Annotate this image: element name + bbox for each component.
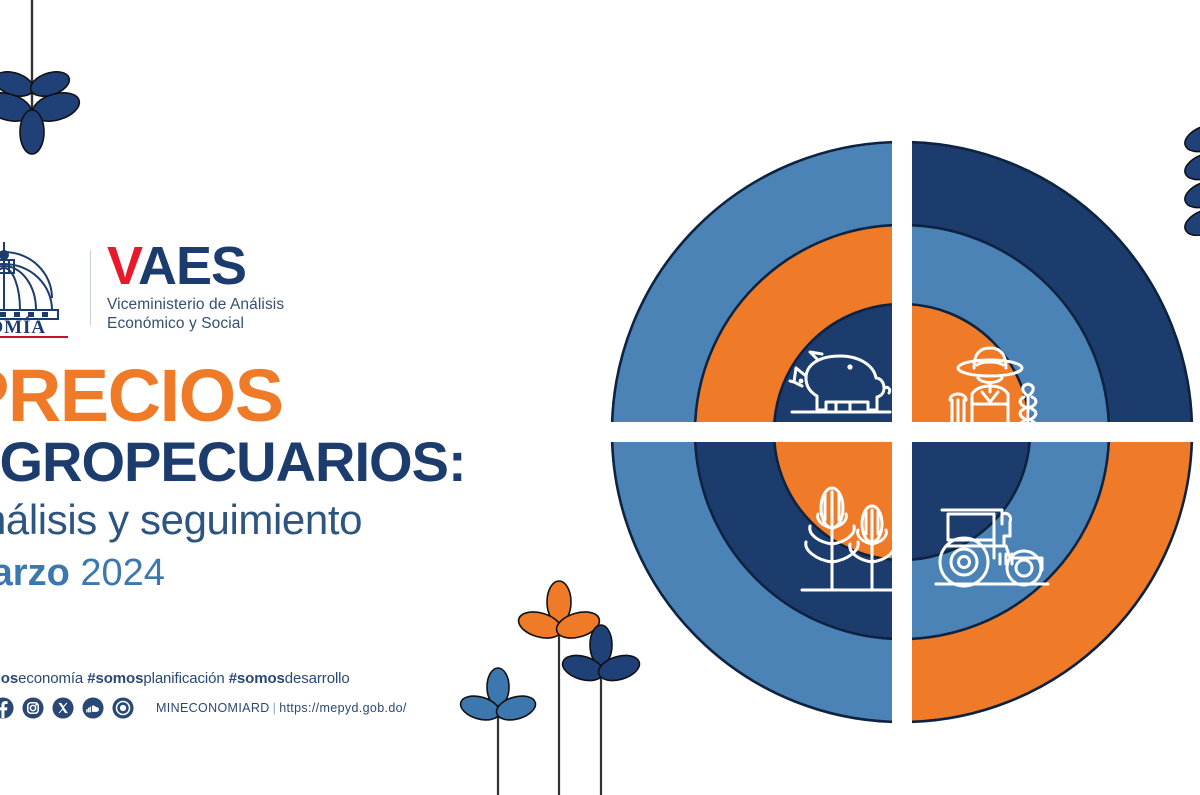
ministry-emblem-icon: ONOMÍA bbox=[0, 238, 82, 338]
footer-block: #somoseconomía #somosplanificación #somo… bbox=[0, 670, 407, 719]
agricultural-sectors-wheel bbox=[592, 112, 1200, 757]
vaes-wordmark: VAES bbox=[107, 242, 284, 292]
handle-separator: | bbox=[273, 701, 277, 715]
vaes-initial: V bbox=[107, 236, 138, 296]
hashtag-tag: #somos bbox=[0, 670, 18, 687]
vaes-rest: AES bbox=[138, 236, 246, 296]
headline-block: PRECIOS AGROPECUARIOS: análisis y seguim… bbox=[0, 362, 466, 595]
hanging-sprout-icon bbox=[0, 0, 100, 174]
date-month: Marzo bbox=[0, 552, 70, 594]
logo-divider bbox=[90, 250, 91, 326]
facebook-icon[interactable] bbox=[0, 697, 14, 719]
cover-slide: ONOMÍA VAES Viceministerio de Análisis E… bbox=[0, 0, 1200, 795]
date-year: 2024 bbox=[80, 552, 165, 594]
hashtag-word: desarrollo bbox=[285, 670, 350, 687]
page-subtitle: análisis y seguimiento bbox=[0, 496, 466, 543]
hashtag-word: economía bbox=[18, 670, 83, 687]
instagram-icon[interactable] bbox=[22, 697, 44, 719]
page-title-second: AGROPECUARIOS: bbox=[0, 433, 466, 490]
hashtag-line: #somoseconomía #somosplanificación #somo… bbox=[0, 670, 407, 687]
flickr-icon[interactable] bbox=[112, 697, 134, 719]
hashtag-tag: #somos bbox=[229, 670, 285, 687]
handle-and-url[interactable]: MINECONOMIARD|https://mepyd.gob.do/ bbox=[156, 701, 407, 715]
vaes-logo-text: VAES Viceministerio de Análisis Económic… bbox=[107, 242, 284, 334]
vaes-subtitle: Viceministerio de Análisis Económico y S… bbox=[107, 296, 284, 334]
ministry-logo-block: ONOMÍA VAES Viceministerio de Análisis E… bbox=[0, 238, 284, 338]
social-links-row: MINECONOMIARD|https://mepyd.gob.do/ bbox=[0, 697, 407, 719]
publication-date: Marzo 2024 bbox=[0, 553, 466, 595]
social-handle: MINECONOMIARD bbox=[156, 701, 270, 715]
emblem-wordmark: ONOMÍA bbox=[0, 316, 46, 338]
x-twitter-icon[interactable] bbox=[52, 697, 74, 719]
hashtag-tag: #somos bbox=[87, 670, 143, 687]
page-title: PRECIOS bbox=[0, 362, 466, 431]
website-url[interactable]: https://mepyd.gob.do/ bbox=[279, 701, 407, 715]
soundcloud-icon[interactable] bbox=[82, 697, 104, 719]
hashtag-word: planificación bbox=[143, 670, 224, 687]
